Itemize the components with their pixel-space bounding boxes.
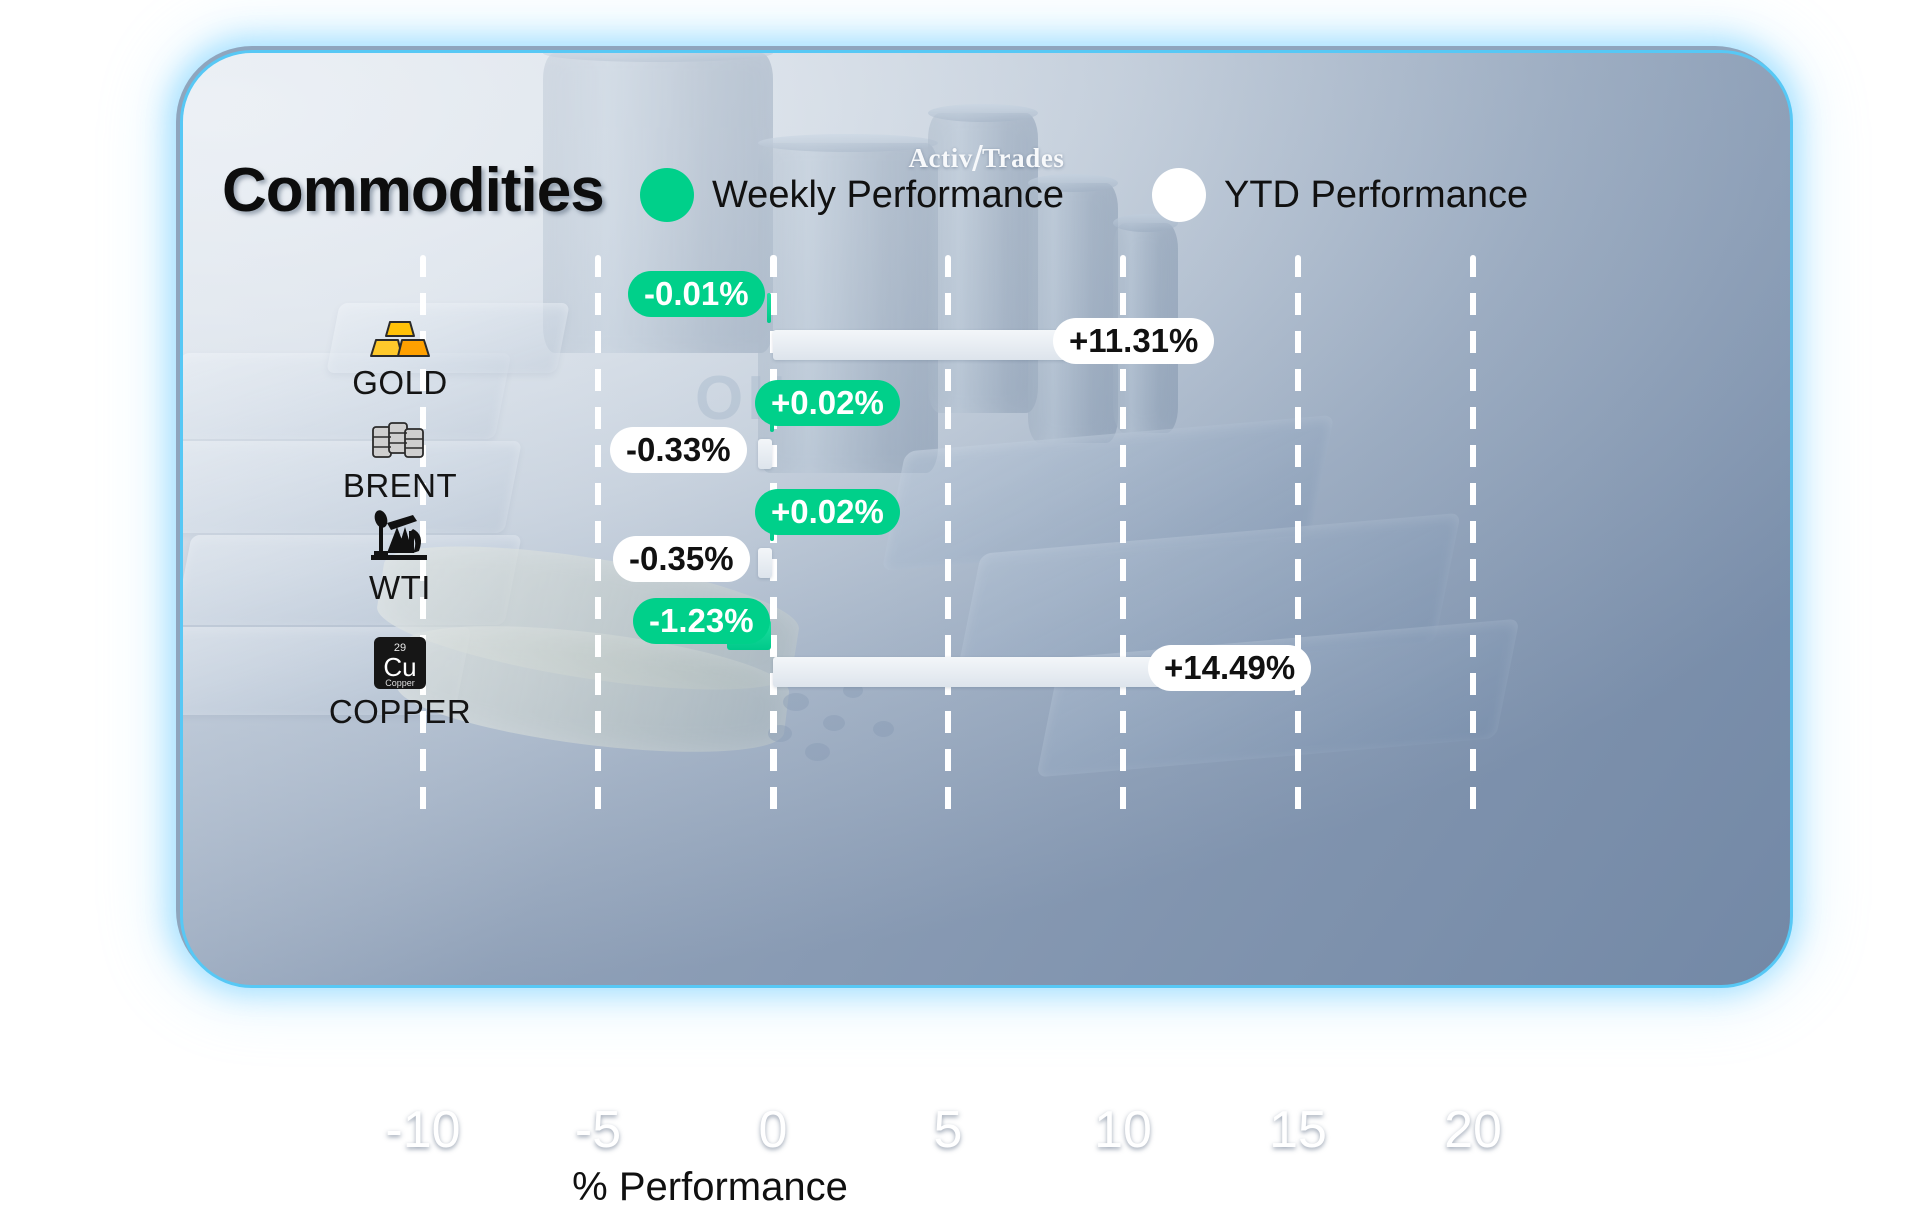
gridline-15	[1295, 255, 1301, 820]
screenshot-root: OIL ActivTrades Commodities Week	[0, 0, 1920, 1080]
value-label-copper-weekly: -1.23%	[633, 598, 770, 644]
value-label-brent-weekly: +0.02%	[755, 380, 900, 426]
legend-item-weekly[interactable]: Weekly Performance	[640, 168, 1064, 222]
gridline--5	[595, 255, 601, 820]
legend-item-ytd[interactable]: YTD Performance	[1152, 168, 1528, 222]
chart-plot-area: -0.01% +11.31% +0.02% -0.33% +0.02% -0.3…	[520, 255, 1440, 820]
bar-wti-ytd	[758, 548, 772, 578]
xtick-label-0: 0	[759, 1100, 788, 1160]
gold-bars-icon-svg	[368, 316, 432, 362]
row-label-brent[interactable]: BRENT	[300, 403, 500, 505]
value-label-brent-ytd: -0.33%	[610, 427, 747, 473]
x-axis-title: % Performance	[400, 1165, 1020, 1210]
xtick-label-20: 20	[1444, 1100, 1502, 1160]
value-label-wti-ytd: -0.35%	[613, 536, 750, 582]
legend-swatch-ytd-circle-icon	[1152, 168, 1206, 222]
page-title: Commodities	[222, 155, 604, 226]
oil-pumpjack-icon	[300, 505, 500, 567]
value-label-copper-ytd: +14.49%	[1148, 645, 1311, 691]
row-label-wti[interactable]: WTI	[300, 505, 500, 607]
row-name-brent: BRENT	[300, 467, 500, 505]
legend-label-weekly: Weekly Performance	[712, 174, 1064, 217]
bar-brent-ytd	[758, 439, 772, 469]
xtick-label-10: 10	[1094, 1100, 1152, 1160]
row-name-wti: WTI	[300, 569, 500, 607]
legend-swatch-weekly-circle-icon	[640, 168, 694, 222]
value-label-gold-weekly: -0.01%	[628, 271, 765, 317]
oil-barrels-icon	[300, 403, 500, 465]
bar-gold-weekly	[767, 293, 771, 323]
svg-text:Copper: Copper	[385, 678, 415, 688]
value-label-wti-weekly: +0.02%	[755, 489, 900, 535]
row-label-gold[interactable]: GOLD	[300, 300, 500, 402]
xtick-label-5: 5	[934, 1100, 963, 1160]
value-label-gold-ytd: +11.31%	[1053, 318, 1214, 364]
xtick-label--10: -10	[385, 1100, 460, 1160]
copper-element-icon-svg: 29 Cu Copper	[372, 635, 428, 691]
oil-barrels-icon-svg	[369, 419, 431, 465]
row-name-copper: COPPER	[300, 693, 500, 731]
oil-pumpjack-icon-svg	[367, 509, 433, 567]
copper-element-icon: 29 Cu Copper	[300, 625, 500, 691]
row-name-gold: GOLD	[300, 364, 500, 402]
legend-label-ytd: YTD Performance	[1224, 174, 1528, 217]
gridline-20	[1470, 255, 1476, 820]
xtick-label-15: 15	[1269, 1100, 1327, 1160]
gold-bars-icon	[300, 300, 500, 362]
xtick-label--5: -5	[575, 1100, 621, 1160]
row-label-copper[interactable]: 29 Cu Copper COPPER	[300, 625, 500, 731]
